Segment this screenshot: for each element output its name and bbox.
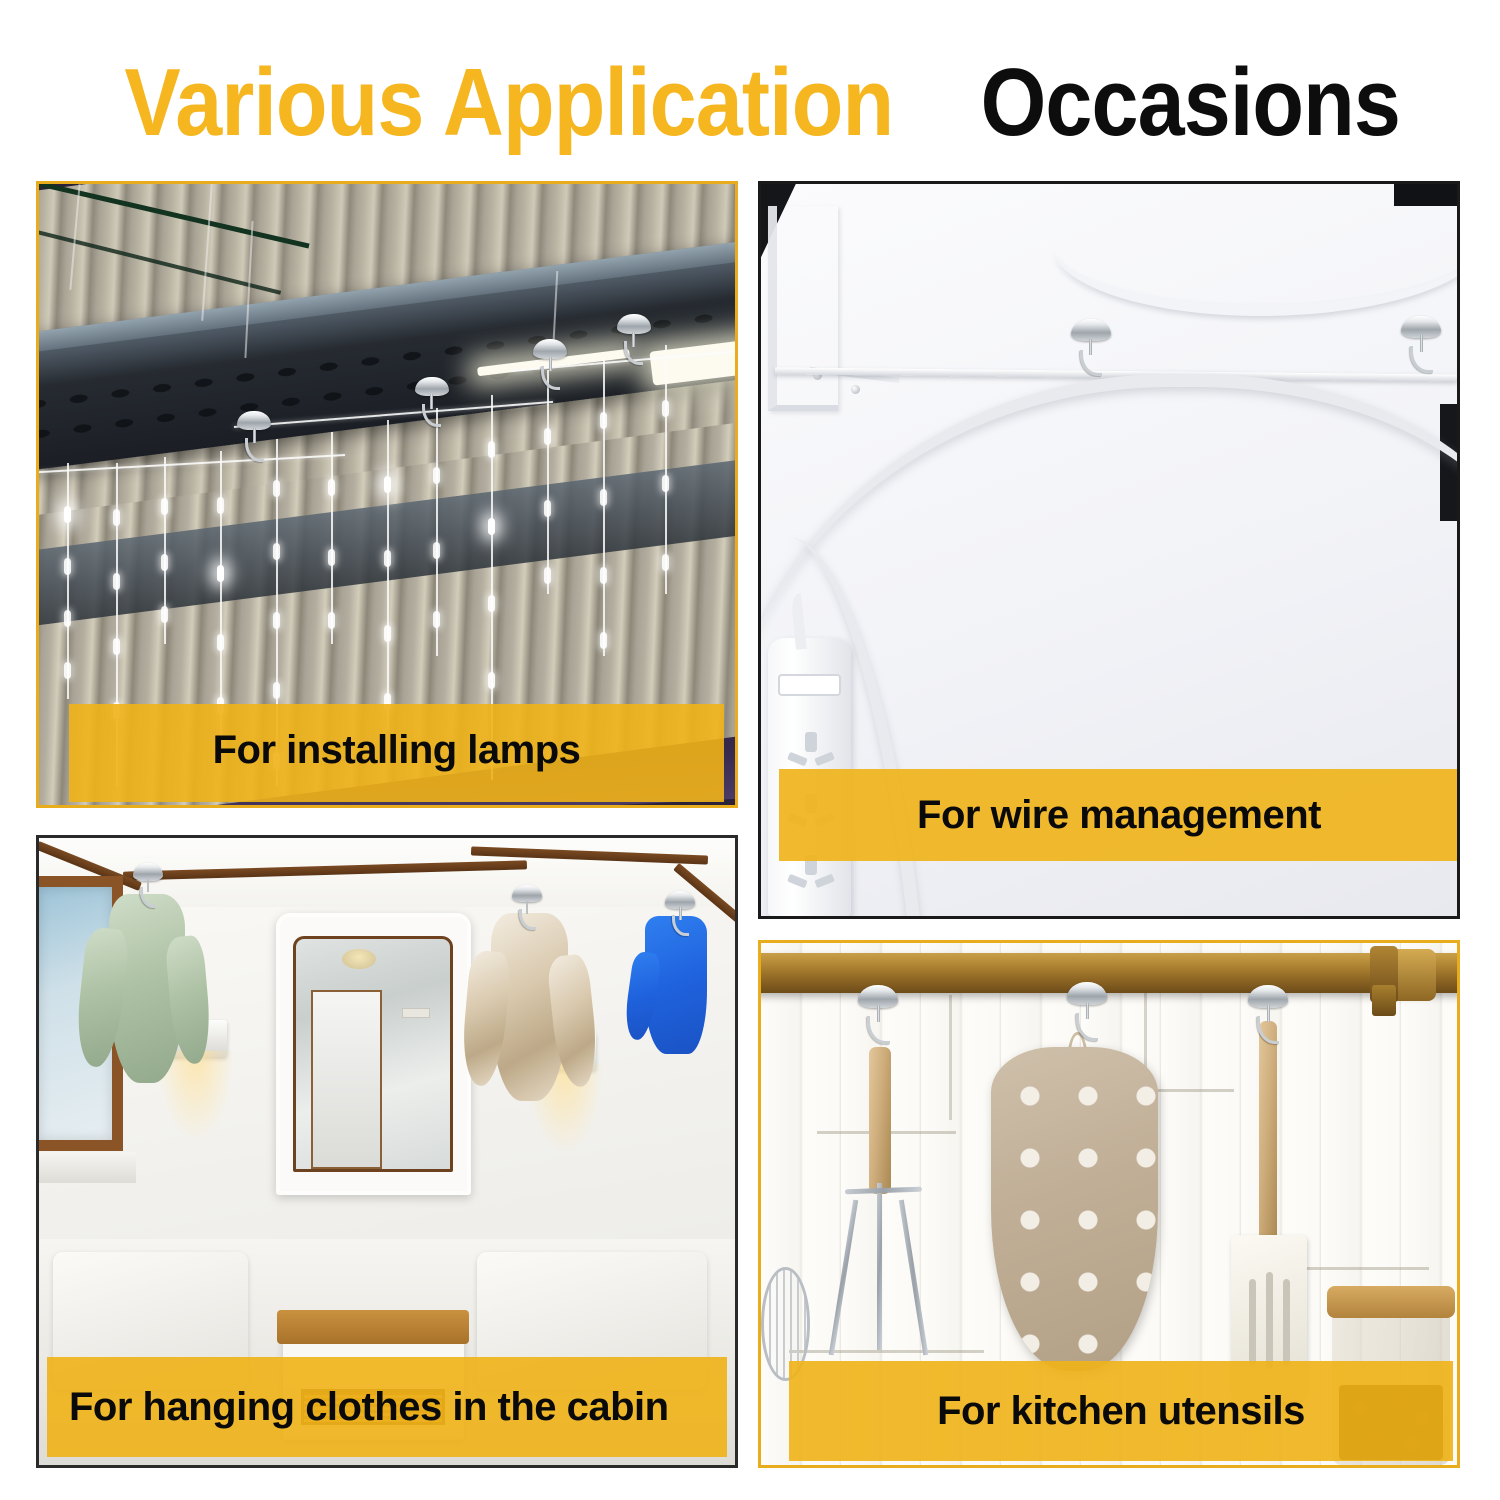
hook-j-curve [1080, 350, 1102, 377]
plank-seam-vertical [949, 995, 952, 1120]
magnetic-hook-icon [617, 314, 651, 366]
caption-installing-lamps: For installing lamps [69, 704, 724, 802]
icicle-light-strand [220, 451, 222, 737]
reflected-light-switch [402, 1008, 430, 1017]
magnetic-hook-icon [665, 891, 695, 937]
hook-j-curve [422, 404, 441, 428]
panel-kitchen-utensils: For kitchen utensils [758, 940, 1460, 1468]
mirror-glass [293, 936, 454, 1172]
magnetic-hook-icon [858, 985, 898, 1045]
spatula-slot [1249, 1279, 1256, 1366]
bracket-screw [851, 385, 860, 394]
hook-j-curve [140, 887, 157, 908]
hook-j-curve [1410, 346, 1432, 373]
hook-j-curve [1257, 1016, 1279, 1044]
wooden-handle [1259, 1021, 1277, 1251]
wooden-handle-fork [869, 1047, 891, 1193]
magnetic-hook-icon [1248, 985, 1288, 1045]
icicle-light-strand [387, 420, 389, 731]
rail-mount-plate [1372, 985, 1396, 1016]
hanging-shirt [109, 894, 186, 1082]
magnetic-hook-icon [133, 863, 163, 909]
magnetic-hook-icon [1071, 319, 1111, 377]
outlet-slot [787, 752, 807, 766]
hook-j-curve [672, 915, 689, 936]
magnetic-hook-icon [415, 377, 449, 429]
power-outlet [785, 855, 837, 902]
icicle-light-strand [603, 358, 605, 656]
reflected-ceiling-lamp [342, 949, 376, 970]
title-main-text: Occasions [980, 55, 1399, 151]
table-wood-top [277, 1310, 469, 1344]
window-sill [39, 1152, 136, 1183]
jar-wooden-lid [1327, 1286, 1455, 1317]
hook-magnet-base [1248, 985, 1288, 1008]
hook-j-curve [867, 1016, 889, 1044]
spatula-slot [1283, 1279, 1290, 1366]
hook-j-curve [624, 341, 643, 365]
outlet-slot [805, 732, 816, 752]
caption-kitchen-utensils: For kitchen utensils [789, 1361, 1453, 1461]
panel-installing-lamps: For installing lamps [36, 181, 738, 808]
hook-magnet-base [1071, 319, 1111, 341]
wooden-handle [869, 1047, 891, 1193]
hook-magnet-base [1067, 982, 1107, 1005]
icicle-light-strand [331, 432, 333, 643]
spatula-wooden-handle [1259, 1021, 1277, 1251]
magnetic-hook-icon [1401, 316, 1441, 374]
power-strip-switch [778, 674, 841, 696]
caption-wire-management: For wire management [779, 769, 1459, 861]
reflected-door [311, 990, 382, 1169]
panel-wire-management: For wire management [758, 181, 1460, 919]
polka-dot-oven-mitt [991, 1047, 1158, 1371]
magnetic-hook-icon [512, 885, 542, 931]
title-accent-text: Various Application [124, 55, 893, 151]
outlet-slot [814, 752, 834, 766]
upper-white-cable [1053, 181, 1460, 316]
wall-mirror [276, 913, 471, 1195]
hook-magnet-base [858, 985, 898, 1008]
magnetic-hook-icon [237, 411, 271, 463]
hook-j-curve [541, 366, 560, 390]
magnetic-hook-icon [1067, 982, 1107, 1042]
fork-tine [877, 1183, 882, 1350]
hanging-jacket [491, 913, 568, 1101]
hook-magnet-base [1401, 316, 1441, 338]
outlet-slot [787, 874, 807, 888]
icicle-light-strand [436, 408, 438, 656]
icicle-light-strand [164, 457, 166, 643]
spatula-slot [1266, 1272, 1273, 1369]
magnetic-hook-icon [533, 339, 567, 391]
page-title: Various Application Occasions [0, 52, 1500, 154]
icicle-light-strand [665, 345, 667, 593]
icicle-light-strand [67, 463, 69, 699]
outlet-slot [814, 874, 834, 888]
plank-seam [789, 1350, 984, 1353]
hook-j-curve [519, 909, 536, 930]
caption-hanging-clothes-cabin: For hanging clothes in the cabin [47, 1357, 727, 1457]
hook-j-curve [1076, 1013, 1098, 1041]
icicle-light-strand [547, 370, 549, 594]
wall-bracket [768, 206, 838, 411]
panel-hanging-clothes-cabin: For hanging clothes in the cabin [36, 835, 738, 1468]
hook-j-curve [245, 438, 264, 462]
mitt-polka-dots [991, 1047, 1158, 1371]
